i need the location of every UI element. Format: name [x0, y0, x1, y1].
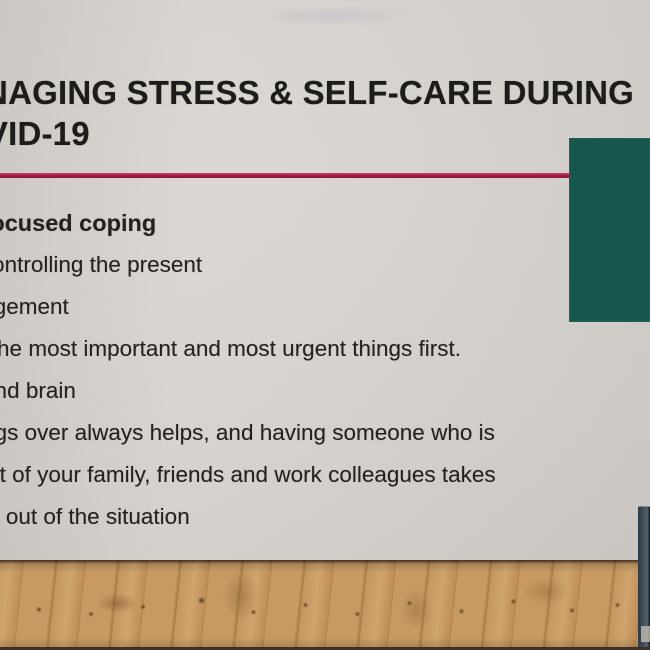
body-line: Use a second brain — [0, 370, 650, 412]
body-line: Focus on controlling the present — [0, 244, 650, 286]
body-line: Talking things over always helps, and ha… — [0, 412, 650, 454]
floor-planks — [0, 560, 650, 650]
dark-panel-edge-base — [641, 626, 650, 642]
title-divider-rule — [0, 173, 596, 178]
projector-sheen — [250, 6, 410, 26]
slide-title: ANAGING STRESS & SELF-CARE DURING OVID-1… — [0, 72, 650, 155]
body-line: Always do the most important and most ur… — [0, 328, 650, 370]
body-line: independent of your family, friends and … — [0, 454, 650, 496]
floor-wall-shadow — [0, 560, 650, 564]
body-heading: Problem focused coping — [0, 202, 650, 244]
body-line: the emotion out of the situation — [0, 496, 650, 538]
body-line: Time management — [0, 286, 650, 328]
wooden-slat-floor — [0, 560, 650, 650]
video-frame: ANAGING STRESS & SELF-CARE DURING OVID-1… — [0, 0, 650, 650]
slide-body: Problem focused coping Focus on controll… — [0, 202, 650, 538]
